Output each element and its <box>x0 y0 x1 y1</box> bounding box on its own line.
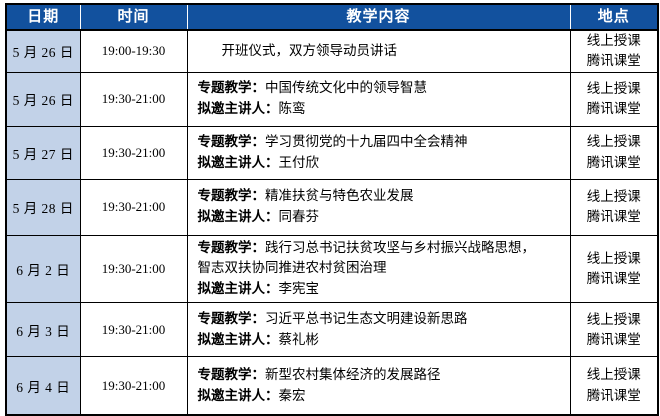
cell-place: 线上授课 腾讯课堂 <box>570 72 658 126</box>
topic-text: 学习贯彻党的十九届四中全会精神 <box>265 134 468 149</box>
cell-place: 线上授课 腾讯课堂 <box>570 303 658 357</box>
place-line-2: 腾讯课堂 <box>571 51 658 71</box>
topic-label: 专题教学： <box>198 311 266 326</box>
speaker-name: 李宪宝 <box>279 281 320 296</box>
cell-time: 19:30-21:00 <box>80 303 187 357</box>
cell-date: 6 月 3 日 <box>6 303 80 357</box>
table-header-row: 日期 时间 教学内容 地点 <box>6 4 658 30</box>
speaker-label: 拟邀主讲人： <box>198 155 279 170</box>
place-line-1: 线上授课 <box>571 31 658 51</box>
speaker-name: 蔡礼彬 <box>279 332 320 347</box>
cell-date: 5 月 28 日 <box>6 179 80 235</box>
cell-place: 线上授课 腾讯课堂 <box>570 357 658 415</box>
speaker-name: 同春芬 <box>279 209 320 224</box>
speaker-label: 拟邀主讲人： <box>198 281 279 296</box>
column-header-content: 教学内容 <box>187 4 570 30</box>
speaker-name: 秦宏 <box>279 388 306 403</box>
cell-time: 19:30-21:00 <box>80 72 187 126</box>
schedule-table-container: 日期 时间 教学内容 地点 5 月 26 日 19:00-19:30 开班仪式，… <box>0 0 660 408</box>
cell-place: 线上授课 腾讯课堂 <box>570 179 658 235</box>
cell-content: 专题教学：精准扶贫与特色农业发展 拟邀主讲人：同春芬 <box>187 179 570 235</box>
place-line-1: 线上授课 <box>571 249 658 269</box>
cell-date: 5 月 26 日 <box>6 72 80 126</box>
content-speaker-line: 拟邀主讲人：蔡礼彬 <box>198 330 564 351</box>
table-row: 5 月 27 日 19:30-21:00 专题教学：学习贯彻党的十九届四中全会精… <box>6 126 658 179</box>
content-topic-line: 专题教学：学习贯彻党的十九届四中全会精神 <box>198 132 564 153</box>
content-speaker-line: 拟邀主讲人：同春芬 <box>198 207 564 228</box>
cell-content: 专题教学：践行习总书记扶贫攻坚与乡村振兴战略思想， 智志双扶协同推进农村贫困治理… <box>187 235 570 303</box>
place-line-1: 线上授课 <box>571 79 658 99</box>
place-line-2: 腾讯课堂 <box>571 269 658 289</box>
table-row: 5 月 26 日 19:30-21:00 专题教学：中国传统文化中的领导智慧 拟… <box>6 72 658 126</box>
cell-place: 线上授课 腾讯课堂 <box>570 126 658 179</box>
content-speaker-line: 拟邀主讲人：王付欣 <box>198 153 564 174</box>
place-line-2: 腾讯课堂 <box>571 386 658 406</box>
table-header: 日期 时间 教学内容 地点 <box>6 4 658 30</box>
topic-label: 专题教学： <box>198 134 266 149</box>
content-topic-line: 专题教学：新型农村集体经济的发展路径 <box>198 365 564 386</box>
table-body: 5 月 26 日 19:00-19:30 开班仪式，双方领导动员讲话 线上授课 … <box>6 30 658 415</box>
content-topic-line: 专题教学：习近平总书记生态文明建设新思路 <box>198 309 564 330</box>
cell-place: 线上授课 腾讯课堂 <box>570 30 658 72</box>
topic-text: 习近平总书记生态文明建设新思路 <box>265 311 468 326</box>
speaker-label: 拟邀主讲人： <box>198 388 279 403</box>
cell-date: 6 月 4 日 <box>6 357 80 415</box>
content-topic-line: 专题教学：中国传统文化中的领导智慧 <box>198 78 564 99</box>
speaker-label: 拟邀主讲人： <box>198 209 279 224</box>
cell-date: 6 月 2 日 <box>6 235 80 303</box>
table-row: 6 月 4 日 19:30-21:00 专题教学：新型农村集体经济的发展路径 拟… <box>6 357 658 415</box>
topic-label: 专题教学： <box>198 367 266 382</box>
content-speaker-line: 拟邀主讲人：陈鸾 <box>198 99 564 120</box>
topic-text: 践行习总书记扶贫攻坚与乡村振兴战略思想， <box>265 240 535 255</box>
place-line-2: 腾讯课堂 <box>571 99 658 119</box>
content-topic-line-2: 智志双扶协同推进农村贫困治理 <box>198 258 564 279</box>
cell-content: 专题教学：中国传统文化中的领导智慧 拟邀主讲人：陈鸾 <box>187 72 570 126</box>
speaker-label: 拟邀主讲人： <box>198 101 279 116</box>
place-line-1: 线上授课 <box>571 132 658 152</box>
topic-label: 专题教学： <box>198 240 266 255</box>
cell-content: 开班仪式，双方领导动员讲话 <box>187 30 570 72</box>
topic-text: 新型农村集体经济的发展路径 <box>265 367 441 382</box>
cell-time: 19:00-19:30 <box>80 30 187 72</box>
table-row: 6 月 2 日 19:30-21:00 专题教学：践行习总书记扶贫攻坚与乡村振兴… <box>6 235 658 303</box>
speaker-label: 拟邀主讲人： <box>198 332 279 347</box>
topic-label: 专题教学： <box>198 80 266 95</box>
speaker-name: 陈鸾 <box>279 101 306 116</box>
training-schedule-table: 日期 时间 教学内容 地点 5 月 26 日 19:00-19:30 开班仪式，… <box>5 3 659 416</box>
table-row: 5 月 28 日 19:30-21:00 专题教学：精准扶贫与特色农业发展 拟邀… <box>6 179 658 235</box>
cell-content: 专题教学：习近平总书记生态文明建设新思路 拟邀主讲人：蔡礼彬 <box>187 303 570 357</box>
topic-label: 专题教学： <box>198 188 266 203</box>
content-speaker-line: 拟邀主讲人：李宪宝 <box>198 279 564 300</box>
content-plain-text: 开班仪式，双方领导动员讲话 <box>222 41 564 62</box>
place-line-2: 腾讯课堂 <box>571 153 658 173</box>
content-speaker-line: 拟邀主讲人：秦宏 <box>198 386 564 407</box>
cell-time: 19:30-21:00 <box>80 179 187 235</box>
cell-date: 5 月 26 日 <box>6 30 80 72</box>
cell-time: 19:30-21:00 <box>80 235 187 303</box>
cell-content: 专题教学：学习贯彻党的十九届四中全会精神 拟邀主讲人：王付欣 <box>187 126 570 179</box>
table-row: 5 月 26 日 19:00-19:30 开班仪式，双方领导动员讲话 线上授课 … <box>6 30 658 72</box>
content-topic-line: 专题教学：精准扶贫与特色农业发展 <box>198 186 564 207</box>
speaker-name: 王付欣 <box>279 155 320 170</box>
topic-text: 精准扶贫与特色农业发展 <box>265 188 414 203</box>
place-line-2: 腾讯课堂 <box>571 207 658 227</box>
place-line-2: 腾讯课堂 <box>571 330 658 350</box>
place-line-1: 线上授课 <box>571 310 658 330</box>
cell-place: 线上授课 腾讯课堂 <box>570 235 658 303</box>
cell-time: 19:30-21:00 <box>80 357 187 415</box>
column-header-date: 日期 <box>6 4 80 30</box>
cell-date: 5 月 27 日 <box>6 126 80 179</box>
column-header-time: 时间 <box>80 4 187 30</box>
topic-text: 中国传统文化中的领导智慧 <box>265 80 427 95</box>
place-line-1: 线上授课 <box>571 365 658 385</box>
column-header-place: 地点 <box>570 4 658 30</box>
place-line-1: 线上授课 <box>571 187 658 207</box>
cell-time: 19:30-21:00 <box>80 126 187 179</box>
cell-content: 专题教学：新型农村集体经济的发展路径 拟邀主讲人：秦宏 <box>187 357 570 415</box>
content-topic-line: 专题教学：践行习总书记扶贫攻坚与乡村振兴战略思想， <box>198 238 564 259</box>
table-row: 6 月 3 日 19:30-21:00 专题教学：习近平总书记生态文明建设新思路… <box>6 303 658 357</box>
